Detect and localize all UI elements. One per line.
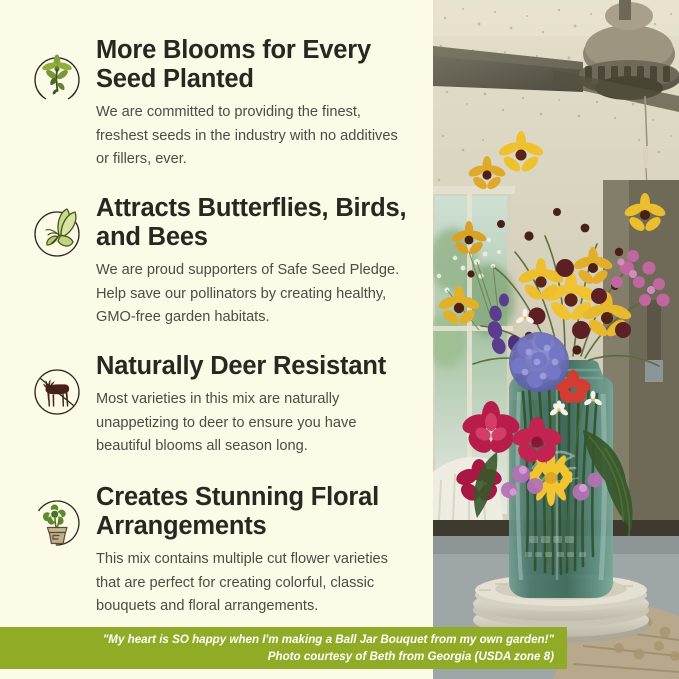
feature-list: More Blooms for Every Seed Planted We ar… [0, 0, 433, 679]
flower-in-circle-icon [26, 44, 88, 106]
potted-plant-in-circle-icon [26, 491, 88, 553]
product-feature-panel: More Blooms for Every Seed Planted We ar… [0, 0, 679, 679]
feature-title: Attracts Butterflies, Birds, and Bees [96, 194, 407, 252]
feature-text: Attracts Butterflies, Birds, and Bees We… [96, 188, 407, 330]
feature-description: We are committed to providing the finest… [96, 101, 407, 172]
feature-item-attracts-pollinators: Attracts Butterflies, Birds, and Bees We… [26, 188, 407, 330]
feature-title: Naturally Deer Resistant [96, 352, 407, 381]
feature-text: Naturally Deer Resistant Most varieties … [96, 346, 407, 459]
bouquet-in-blue-ball-mason-jar-photo [433, 0, 679, 679]
feature-item-floral-arrangements: Creates Stunning Floral Arrangements Thi… [26, 477, 407, 619]
feature-item-more-blooms: More Blooms for Every Seed Planted We ar… [26, 30, 407, 172]
caption-quote: "My heart is SO happy when I'm making a … [103, 631, 554, 648]
no-deer-in-circle-icon [26, 360, 88, 422]
butterfly-in-circle-icon [26, 202, 88, 264]
feature-description: We are proud supporters of Safe Seed Ple… [96, 259, 407, 330]
feature-description: This mix contains multiple cut flower va… [96, 548, 407, 619]
feature-text: Creates Stunning Floral Arrangements Thi… [96, 477, 407, 619]
feature-item-deer-resistant: Naturally Deer Resistant Most varieties … [26, 346, 407, 459]
caption-credit: Photo courtesy of Beth from Georgia (USD… [268, 648, 554, 665]
photo-caption-bar: "My heart is SO happy when I'm making a … [0, 627, 567, 669]
feature-text: More Blooms for Every Seed Planted We ar… [96, 30, 407, 172]
feature-title: More Blooms for Every Seed Planted [96, 36, 407, 94]
feature-title: Creates Stunning Floral Arrangements [96, 483, 407, 541]
feature-description: Most varieties in this mix are naturally… [96, 388, 407, 459]
